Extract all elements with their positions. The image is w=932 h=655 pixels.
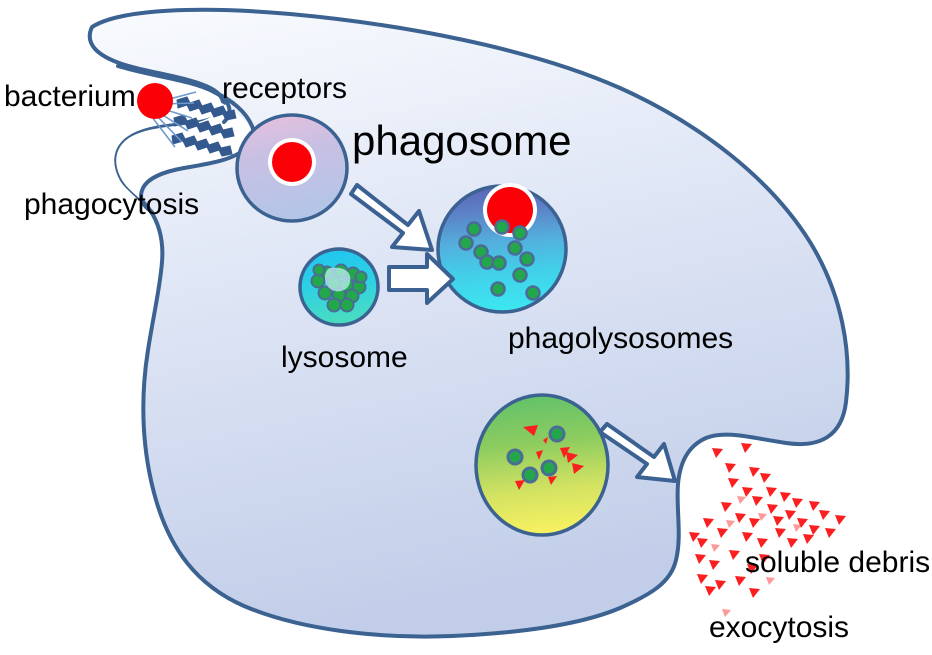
bacterium-in-phagosome [272, 142, 312, 182]
cell-membrane-outline [90, 10, 848, 637]
label-phagolysosomes: phagolysosomes [508, 324, 733, 354]
phagolysosome-vesicle [438, 183, 566, 312]
label-bacterium: bacterium [4, 82, 136, 112]
diagram-canvas: bacterium receptors phagocytosis phagoso… [0, 0, 932, 655]
phagosome-vesicle [237, 115, 347, 221]
label-exocytosis: exocytosis [709, 613, 849, 643]
free-bacterium [137, 83, 173, 119]
lysosome-vesicle [300, 249, 378, 325]
soluble-debris-group [689, 443, 846, 617]
residual-body-vesicle [476, 395, 608, 535]
label-soluble-debris: soluble debris [745, 548, 930, 578]
bacterium-in-phagolysosome [487, 187, 533, 233]
label-lysosome: lysosome [281, 343, 408, 373]
label-phagosome: phagosome [352, 120, 572, 162]
label-phagocytosis: phagocytosis [24, 190, 199, 220]
label-receptors: receptors [222, 74, 347, 104]
phagocyte-cell-body [90, 10, 848, 637]
